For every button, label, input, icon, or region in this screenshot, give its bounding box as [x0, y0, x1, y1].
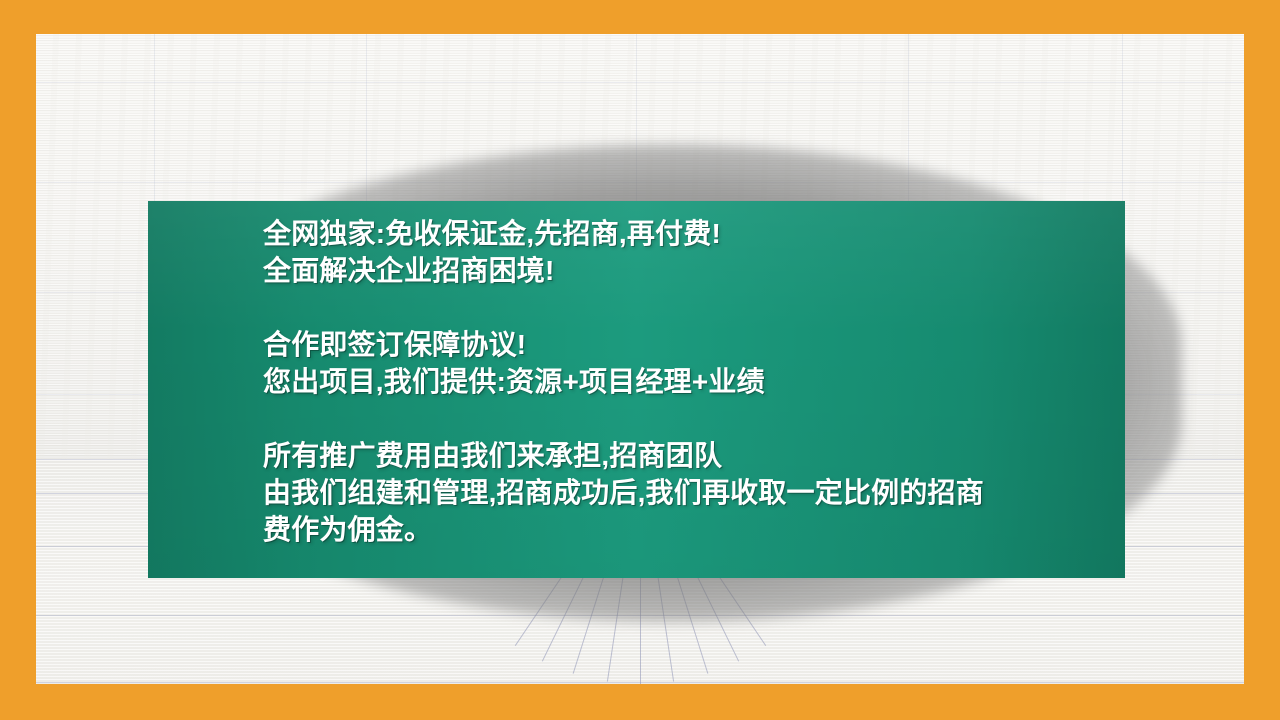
message-line-7: 费作为佣金。: [263, 511, 1115, 548]
message-text-block: 全网独家:免收保证金,先招商,再付费! 全面解决企业招商困境! 合作即签订保障协…: [263, 215, 1115, 548]
message-line-1: 全网独家:免收保证金,先招商,再付费!: [263, 215, 1115, 252]
message-line-3: 合作即签订保障协议!: [263, 326, 1115, 363]
message-spacer-1: [263, 289, 1115, 326]
message-line-4: 您出项目,我们提供:资源+项目经理+业绩: [263, 363, 1115, 400]
wall-gridline: [36, 82, 1244, 83]
message-spacer-2: [263, 400, 1115, 437]
message-line-5: 所有推广费用由我们来承担,招商团队: [263, 437, 1115, 474]
slide-root: 全网独家:免收保证金,先招商,再付费! 全面解决企业招商困境! 合作即签订保障协…: [0, 0, 1280, 720]
message-card: 全网独家:免收保证金,先招商,再付费! 全面解决企业招商困境! 合作即签订保障协…: [148, 201, 1125, 578]
message-line-6: 由我们组建和管理,招商成功后,我们再收取一定比例的招商: [263, 474, 1115, 511]
message-line-2: 全面解决企业招商困境!: [263, 252, 1115, 289]
